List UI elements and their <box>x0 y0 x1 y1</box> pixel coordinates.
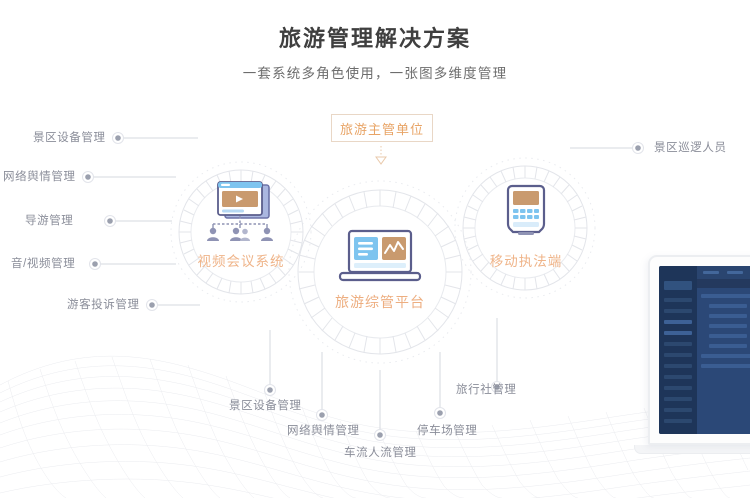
dashboard-row <box>701 354 750 358</box>
dashboard-sidebar <box>659 266 697 434</box>
bottom-connectors <box>270 318 497 430</box>
node-video-conference[interactable]: 视频会议系统 <box>181 180 301 270</box>
dashboard-tab <box>703 271 719 274</box>
endpoint-bottom-1[interactable]: 景区设备管理 <box>229 399 302 413</box>
left-endpoint-dots <box>83 133 158 311</box>
dashboard-nav-item <box>664 309 692 313</box>
authority-unit-box[interactable]: 旅游主管单位 <box>331 114 433 142</box>
dashboard-row <box>709 334 747 338</box>
dashboard-row <box>709 344 747 348</box>
node-central-platform-label: 旅游综管平台 <box>335 292 425 312</box>
endpoint-bottom-3[interactable]: 车流人流管理 <box>344 446 417 460</box>
dashboard-main <box>697 266 750 434</box>
right-endpoint-dots <box>633 143 644 154</box>
dashboard-row <box>709 314 747 318</box>
dashboard-nav-item <box>664 408 692 412</box>
wireframe-terrain-background <box>0 323 750 498</box>
dashboard-nav-item <box>664 375 692 379</box>
endpoint-bottom-5[interactable]: 旅行社管理 <box>456 383 517 397</box>
node-mobile-enforcement-label: 移动执法端 <box>490 250 563 270</box>
endpoint-left-3[interactable]: 导游管理 <box>25 214 73 228</box>
node-video-conference-label: 视频会议系统 <box>198 250 285 270</box>
laptop-lid <box>648 255 750 445</box>
node-central-platform[interactable]: 旅游综管平台 <box>315 228 445 312</box>
endpoint-right-1[interactable]: 景区巡逻人员 <box>654 141 727 155</box>
node-mobile-enforcement[interactable]: 移动执法端 <box>468 182 584 270</box>
dashboard-toolbar <box>697 279 750 288</box>
endpoint-left-2[interactable]: 网络舆情管理 <box>3 170 76 184</box>
dashboard-nav-item <box>664 353 692 357</box>
endpoint-left-5[interactable]: 游客投诉管理 <box>67 298 140 312</box>
dashboard-screenshot <box>659 266 750 434</box>
endpoint-left-4[interactable]: 音/视频管理 <box>11 257 75 271</box>
laptop-base <box>634 445 750 454</box>
dashboard-nav-item <box>664 364 692 368</box>
dashboard-nav-item <box>664 386 692 390</box>
dashboard-logo <box>664 281 692 290</box>
dashboard-nav-item <box>664 419 692 423</box>
dashboard-nav-item <box>664 397 692 401</box>
authority-unit-label: 旅游主管单位 <box>340 119 424 138</box>
header: 旅游管理解决方案 一套系统多角色使用，一张图多维度管理 <box>0 24 750 84</box>
endpoint-bottom-2[interactable]: 网络舆情管理 <box>287 424 360 438</box>
endpoint-bottom-4[interactable]: 停车场管理 <box>417 424 478 438</box>
handheld-terminal-icon <box>498 182 554 244</box>
dashboard-tree <box>697 288 750 434</box>
dashboard-nav-item-active <box>664 331 692 335</box>
dashboard-row <box>701 294 750 298</box>
dashboard-row <box>701 364 750 368</box>
dashboard-tab <box>727 271 743 274</box>
dashboard-nav-item <box>664 298 692 302</box>
dashboard-row <box>709 324 747 328</box>
page-subtitle: 一套系统多角色使用，一张图多维度管理 <box>0 64 750 84</box>
dashboard-nav-item-active <box>664 320 692 324</box>
video-conference-icon <box>195 180 287 244</box>
dashboard-row <box>709 304 747 308</box>
dashboard-tabbar <box>697 266 750 279</box>
laptop-mockup <box>648 255 750 485</box>
endpoint-left-1[interactable]: 景区设备管理 <box>33 131 106 145</box>
authority-arrow <box>376 146 386 164</box>
page-title: 旅游管理解决方案 <box>0 24 750 54</box>
dashboard-nav-item <box>664 342 692 346</box>
solution-architecture-poster: 旅游管理解决方案 一套系统多角色使用，一张图多维度管理 <box>0 0 750 498</box>
dashboard-content <box>697 288 750 434</box>
laptop-dashboard-icon <box>336 228 424 286</box>
